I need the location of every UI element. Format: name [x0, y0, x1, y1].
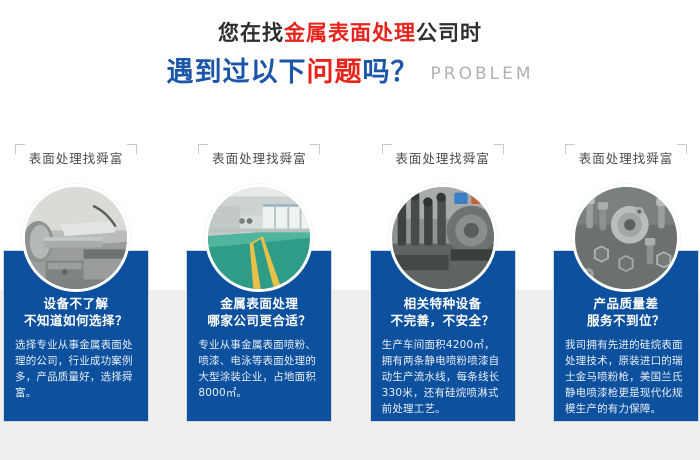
problem-card[interactable]: 表面处理找舜富 设备不了解 不知道如何选择？ 选择专业从事金属表面处理的公司，行… [3, 140, 149, 430]
card-label-text: 表面处理找舜富 [395, 148, 490, 167]
card-label-text: 表面处理找舜富 [29, 148, 124, 167]
problem-card[interactable]: 表面处理找舜富 产品质量差 服务不到位？ 我司拥有先进的硅烷表面处理技术，原装进… [553, 140, 699, 430]
problem-card[interactable]: 表面处理找舜富 相关特种设备 不完善，不安全？ 生产车间面积4200㎡，拥有两条… [370, 140, 516, 430]
headline-part3: 吗？ [363, 57, 419, 88]
headline-prefix: 您在找 [218, 21, 284, 45]
card-body: 我司拥有先进的硅烷表面处理技术，原装进口的瑞士金马喷粉枪，美国兰氏静电喷漆枪更是… [565, 337, 687, 417]
metal-bolts-parts-image [575, 187, 677, 289]
bracket-top-right-icon [494, 144, 504, 154]
card-body: 生产车间面积4200㎡，拥有两条静电喷粉喷漆自动生产流水线，每条线长330米，还… [382, 337, 504, 417]
card-title-line2: 服务不到位？ [565, 312, 687, 329]
card-photo [22, 184, 130, 292]
card-title: 产品质量差 服务不到位？ [565, 295, 687, 329]
card-title-line2: 不知道如何选择？ [15, 312, 137, 329]
card-body: 专业从事金属表面喷粉、喷漆、电泳等表面处理的大型涂装企业，占地面积8000㎡。 [198, 337, 320, 401]
page-header: 您在找金属表面处理公司时 遇到过以下问题吗？PROBLEM [0, 18, 700, 93]
bracket-top-left-icon [15, 144, 25, 154]
card-label-text: 表面处理找舜富 [212, 148, 307, 167]
card-title-line2: 不完善，不安全？ [382, 312, 504, 329]
card-photo [389, 184, 497, 292]
bracket-top-left-icon [382, 144, 392, 154]
card-title-line1: 金属表面处理 [198, 295, 320, 312]
headline-part2: 问题 [307, 57, 363, 88]
card-title: 金属表面处理 哪家公司更合适？ [198, 295, 320, 329]
card-title-line2: 哪家公司更合适？ [198, 312, 320, 329]
card-title: 设备不了解 不知道如何选择？ [15, 295, 137, 329]
card-title-line1: 设备不了解 [15, 295, 137, 312]
bracket-top-left-icon [198, 144, 208, 154]
card-body: 选择专业从事金属表面处理的公司，行业成功案例多，产品质量好，选择舜富。 [15, 337, 137, 401]
problem-card-row: 表面处理找舜富 设备不了解 不知道如何选择？ 选择专业从事金属表面处理的公司，行… [3, 140, 699, 430]
industrial-equipment-image [392, 187, 494, 289]
headline-part1: 遇到过以下 [167, 57, 307, 88]
card-label: 表面处理找舜富 [559, 140, 693, 174]
card-label: 表面处理找舜富 [192, 140, 326, 174]
card-title-line1: 产品质量差 [565, 295, 687, 312]
card-photo [205, 184, 313, 292]
headline-secondary: 遇到过以下问题吗？PROBLEM [0, 56, 700, 93]
card-label: 表面处理找舜富 [376, 140, 510, 174]
card-label-text: 表面处理找舜富 [579, 148, 674, 167]
card-label: 表面处理找舜富 [9, 140, 143, 174]
card-title-line1: 相关特种设备 [382, 295, 504, 312]
card-photo [572, 184, 680, 292]
bracket-top-right-icon [310, 144, 320, 154]
headline-english: PROBLEM [431, 64, 534, 84]
headline-highlight: 金属表面处理 [284, 21, 416, 45]
bracket-top-right-icon [677, 144, 687, 154]
bracket-top-right-icon [127, 144, 137, 154]
lathe-machining-image [25, 187, 127, 289]
problem-card[interactable]: 表面处理找舜富 金属表面处理 哪家公司更合适？ 专业从事金属表面喷粉、喷漆、电泳… [186, 140, 332, 430]
headline-primary: 您在找金属表面处理公司时 [0, 18, 700, 48]
bracket-top-left-icon [565, 144, 575, 154]
headline-suffix: 公司时 [416, 21, 482, 45]
factory-workshop-image [208, 187, 310, 289]
card-title: 相关特种设备 不完善，不安全？ [382, 295, 504, 329]
